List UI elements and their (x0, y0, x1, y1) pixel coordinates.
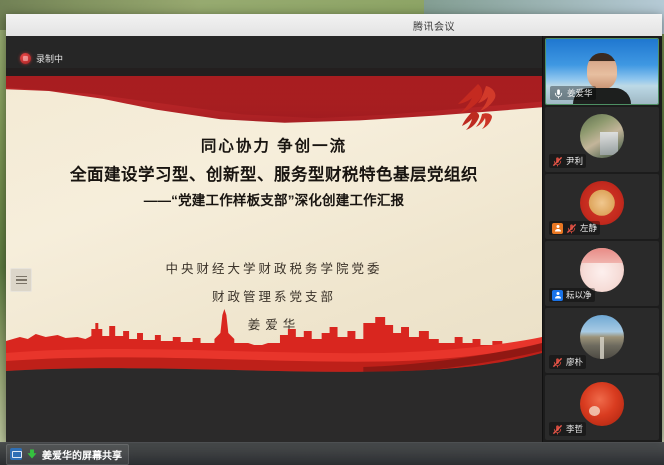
recording-label: 录制中 (36, 52, 63, 65)
presentation-slide: 同心协力 争创一流 全面建设学习型、创新型、服务型财税特色基层党组织 ——“党建… (6, 68, 542, 385)
avatar (580, 382, 624, 426)
slide-byline-line1: 中央财经大学财政税务学院党委 (6, 258, 542, 277)
participant-name: 耘以净 (566, 289, 592, 301)
cohost-badge-icon (552, 290, 563, 301)
participant-name: 尹利 (566, 155, 583, 167)
hamburger-menu-icon (16, 279, 27, 281)
participant-label: 左静 (549, 221, 600, 235)
mic-muted-icon (552, 156, 563, 167)
participant-tile[interactable]: 姜爱华 (545, 38, 659, 105)
taskbar-item-label: 姜爱华的屏幕共享 (42, 447, 122, 462)
mic-muted-icon (552, 357, 563, 368)
green-share-arrow-icon (26, 448, 38, 460)
meeting-stage: 录制中 同心协力 争创一流 全面建设学习型、创新型、服务型财税特色基层党组织 —… (6, 36, 662, 442)
participant-label: 廖朴 (549, 355, 586, 369)
participant-rail[interactable]: 姜爱华 尹利 (542, 36, 662, 442)
slide-heading-line2: 全面建设学习型、创新型、服务型财税特色基层党组织 (6, 161, 542, 185)
participant-label: 耘以净 (549, 288, 595, 302)
avatar (580, 248, 624, 292)
hamburger-menu-icon (16, 276, 27, 278)
slide-heading-line3: ——“党建工作样板支部”深化创建工作汇报 (6, 189, 542, 209)
participant-name: 李哲 (566, 423, 583, 435)
avatar (580, 181, 624, 225)
mic-on-icon (553, 88, 564, 99)
participant-name: 姜爱华 (567, 87, 593, 99)
participant-label: 李哲 (549, 422, 586, 436)
doves-icon (434, 78, 514, 140)
shared-screen-area[interactable]: 录制中 同心协力 争创一流 全面建设学习型、创新型、服务型财税特色基层党组织 —… (6, 36, 542, 442)
avatar (580, 315, 624, 359)
participant-tile[interactable]: 李哲 (545, 375, 659, 440)
participant-label: 姜爱华 (550, 86, 596, 100)
participant-name: 左静 (580, 222, 597, 234)
participant-label: 尹利 (549, 154, 586, 168)
mic-muted-icon (552, 424, 563, 435)
taskbar[interactable]: 姜爱华的屏幕共享 (0, 442, 664, 465)
participant-tile[interactable]: 廖朴 (545, 308, 659, 373)
tencent-meeting-window: 腾讯会议 录制中 同心协力 争创一流 全面 (6, 14, 662, 442)
mic-muted-icon (566, 223, 577, 234)
share-area-background (6, 385, 542, 442)
floating-mini-toolbar[interactable] (10, 268, 32, 292)
window-titlebar: 腾讯会议 (6, 14, 662, 37)
slide-title-block: 同心协力 争创一流 全面建设学习型、创新型、服务型财税特色基层党组织 ——“党建… (6, 134, 542, 209)
recording-indicator: 录制中 (20, 52, 63, 65)
participant-name: 廖朴 (566, 356, 583, 368)
participant-tile[interactable]: 耘以净 (545, 241, 659, 306)
participant-tile[interactable]: 尹利 (545, 107, 659, 172)
window-title: 腾讯会议 (413, 18, 455, 33)
avatar (587, 53, 617, 89)
record-dot-icon (20, 53, 31, 64)
taskbar-item-screen-share[interactable]: 姜爱华的屏幕共享 (6, 444, 129, 465)
avatar (580, 114, 624, 158)
slide-heading-line1: 同心协力 争创一流 (6, 134, 542, 156)
city-skyline-icon (6, 293, 542, 385)
host-badge-icon (552, 223, 563, 234)
participant-tile[interactable]: 左静 (545, 174, 659, 239)
hamburger-menu-icon (16, 283, 27, 285)
meeting-app-icon (10, 448, 22, 460)
